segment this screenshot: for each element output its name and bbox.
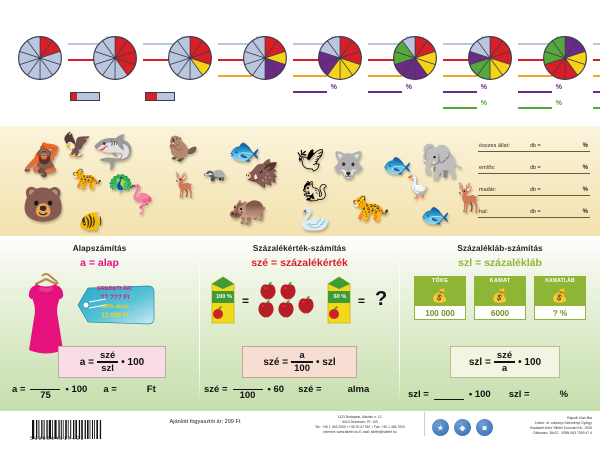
animal-boar: 🐗 bbox=[244, 160, 279, 188]
fraction-bar-strip bbox=[145, 92, 175, 101]
percent-symbol: % bbox=[481, 84, 487, 92]
animal-eagle: 🦅 bbox=[62, 134, 92, 158]
formula-denominator: 100 bbox=[291, 364, 313, 374]
animal-percent-symbol: % bbox=[583, 165, 588, 171]
percent-symbol: % bbox=[556, 100, 562, 108]
tag-line-discount: -25% akció bbox=[82, 304, 148, 310]
panel-subtitle: szé = százalékérték bbox=[200, 257, 399, 269]
animal-swan: 🦢 bbox=[300, 208, 330, 232]
money-card-art: 💰 bbox=[475, 286, 525, 306]
money-card-value: ? % bbox=[535, 306, 585, 320]
answer-rule[interactable] bbox=[443, 107, 477, 109]
animal-brown-bear: 🐻 bbox=[22, 188, 64, 222]
animal-kingfisher: 🕊 bbox=[296, 150, 324, 172]
percent-symbol: % bbox=[481, 100, 487, 108]
animal-count-unit: db = bbox=[530, 143, 541, 149]
answer-unit: Ft bbox=[147, 384, 156, 395]
fraction-bar-strip bbox=[70, 92, 100, 101]
animal-count-row[interactable]: összes állat: db = % bbox=[478, 130, 590, 152]
money-card-toke: TŐKE 💰 100 000 bbox=[414, 276, 466, 320]
animal-lynx: 🐆 bbox=[72, 166, 102, 190]
animal-beaver: 🦫 bbox=[168, 138, 198, 162]
formula-denominator: a bbox=[499, 364, 510, 374]
formula-fraction: szé szl bbox=[97, 351, 118, 374]
pie-chart-svg bbox=[168, 36, 212, 80]
answer-rule[interactable] bbox=[368, 91, 402, 93]
formula-box-szazalekertek: szé = a 100 • szl bbox=[242, 346, 357, 378]
publisher-address: 1123 Budapest, Alkotás u. 12.6413 Debrec… bbox=[300, 415, 420, 435]
pie-chart bbox=[93, 36, 137, 85]
pie-chart-svg bbox=[318, 36, 362, 80]
formula-numerator: szé bbox=[97, 351, 118, 361]
answer-denominator: 75 bbox=[40, 391, 51, 401]
animal-count-unit: db = bbox=[530, 209, 541, 215]
formula-tail: • szl bbox=[316, 357, 336, 368]
answer-fraction-bar bbox=[434, 399, 464, 401]
percent-answer-lines: % % % % % bbox=[593, 32, 600, 112]
answer-denominator: 100 bbox=[240, 391, 256, 401]
carton-label-100: 100 % bbox=[213, 294, 235, 300]
panel-title: Százalékérték-számítás bbox=[200, 244, 399, 253]
animal-orangutan: 🦧 bbox=[22, 144, 62, 176]
panel-title: Alapszámítás bbox=[0, 244, 199, 253]
apple-icon bbox=[296, 294, 316, 319]
formula-tail: • 100 bbox=[121, 357, 144, 368]
panel-szazalekLab: Százalékláb-számítás szl = százalékláb T… bbox=[400, 236, 600, 411]
money-card-art: 💰 bbox=[535, 286, 585, 306]
pie-chart-svg bbox=[393, 36, 437, 80]
credit-line: Cikkszám: 38x22 · ISBN 963 7269 47 4 bbox=[472, 431, 592, 436]
animals-count-table: összes állat: db = %emlős: db = %madár: … bbox=[478, 130, 590, 218]
animal-category-label: hal: bbox=[479, 209, 488, 215]
formula-lhs: a = bbox=[80, 357, 94, 368]
tag-line-original-price-value: ?? ??? Ft bbox=[82, 294, 148, 301]
animal-jaguar: 🐆 bbox=[352, 192, 389, 222]
panel-szazalekertek: Százalékérték-számítás szé = százalékért… bbox=[200, 236, 399, 411]
panel-subtitle: a = alap bbox=[0, 257, 199, 269]
pie-chart-svg bbox=[468, 36, 512, 80]
formula-denominator: szl bbox=[98, 364, 117, 374]
money-card-value: 6000 bbox=[475, 306, 525, 320]
formula-tail: • 100 bbox=[518, 357, 541, 368]
answer-rule[interactable] bbox=[593, 43, 600, 45]
juice-carton-100-illustration bbox=[208, 274, 238, 326]
pie-chart bbox=[18, 36, 62, 85]
formula-fraction: szé a bbox=[494, 351, 515, 374]
equals-sign-1: = bbox=[242, 294, 249, 308]
answer-rule[interactable] bbox=[293, 91, 327, 93]
answer-lhs: a = bbox=[12, 384, 25, 395]
formula-lhs: szé = bbox=[263, 357, 288, 368]
formula-numerator: a bbox=[296, 351, 307, 361]
formula-panels-section: Alapszámítás a = alap bbox=[0, 236, 600, 411]
money-card-kamatlab: KAMATLÁB 💰 ? % bbox=[534, 276, 586, 320]
percent-answer-line[interactable]: % bbox=[518, 96, 562, 109]
animal-heron: 🪿 bbox=[404, 176, 431, 198]
fraction-row-section: % % % % % % bbox=[0, 18, 600, 126]
publisher-logo-icon-1: ★ bbox=[432, 419, 449, 436]
pie-chart bbox=[543, 36, 587, 85]
percent-symbol: % bbox=[331, 84, 337, 92]
answer-row-alap[interactable]: a = 75 • 100 a = Ft bbox=[0, 379, 211, 401]
animal-squirrel: 🐿 bbox=[302, 182, 327, 202]
percent-answer-line[interactable]: % bbox=[593, 96, 600, 109]
answer-row-szazalekLab[interactable]: szl = • 100 szl = % bbox=[400, 389, 600, 402]
percent-answer-line[interactable]: % bbox=[443, 96, 487, 109]
money-card-art: 💰 bbox=[415, 286, 465, 306]
formula-box-alap: a = szé szl • 100 bbox=[58, 346, 166, 378]
animal-hippo: 🦛 bbox=[228, 192, 268, 224]
answer-mid: • 60 bbox=[268, 384, 285, 395]
answer-rule[interactable] bbox=[593, 107, 600, 109]
answer-mid: • 100 bbox=[469, 389, 491, 400]
animal-count-row[interactable]: emlős: db = % bbox=[478, 152, 590, 174]
apple-icon bbox=[276, 298, 296, 323]
piggy-bank-icon: 💰 bbox=[432, 288, 448, 304]
percent-symbol: % bbox=[406, 84, 412, 92]
animal-count-unit: db = bbox=[530, 165, 541, 171]
percent-answer-line[interactable]: % bbox=[593, 32, 600, 45]
animal-flamingo: 🦩 bbox=[124, 186, 159, 214]
pie-chart bbox=[468, 36, 512, 85]
animal-catfish: 🐟 bbox=[420, 204, 450, 228]
poster-root: % % % % % % bbox=[0, 0, 600, 450]
pie-chart-svg bbox=[93, 36, 137, 80]
pie-chart bbox=[318, 36, 362, 85]
tag-line-original-price-label: EREDETI ÁR: bbox=[82, 286, 148, 292]
carton-label-60: 60 % bbox=[329, 294, 351, 300]
pie-chart-svg bbox=[18, 36, 62, 80]
answer-rule[interactable] bbox=[593, 59, 600, 61]
answer-result-lhs: a = bbox=[103, 384, 116, 395]
answer-rule[interactable] bbox=[593, 75, 600, 77]
juice-carton-60-illustration bbox=[324, 274, 354, 326]
money-card-value: 100 000 bbox=[415, 306, 465, 320]
answer-unit: % bbox=[560, 389, 568, 400]
tag-line-sale-price: 12 000 Ft bbox=[82, 312, 148, 319]
pie-chart bbox=[168, 36, 212, 85]
publisher-logo-icon-2: ◆ bbox=[454, 419, 471, 436]
answer-unit: alma bbox=[348, 384, 370, 395]
answer-blank-fraction[interactable]: 75 bbox=[30, 379, 60, 401]
money-card-kamat: KAMAT 💰 6000 bbox=[474, 276, 526, 320]
answer-rule[interactable] bbox=[443, 91, 477, 93]
formula-box-szazalekLab: szl = szé a • 100 bbox=[450, 346, 560, 378]
percent-answer-line[interactable]: % bbox=[593, 80, 600, 93]
answer-row-szazalekertek[interactable]: szé = 100 • 60 szé = alma bbox=[200, 379, 403, 401]
animal-category-label: összes állat: bbox=[479, 143, 510, 149]
money-card-header: KAMATLÁB bbox=[535, 277, 585, 286]
animal-roe-deer: 🦌 bbox=[170, 174, 200, 198]
animal-count-unit: db = bbox=[530, 187, 541, 193]
animal-trout: 🐠 bbox=[78, 212, 103, 232]
publisher-credits: Rajzolt: Kiss IlkaLektor: dr. varkonyi S… bbox=[472, 416, 592, 436]
piggy-bank-icon: 💰 bbox=[552, 288, 568, 304]
animal-mole: 🦡 bbox=[203, 162, 228, 182]
question-mark: ? bbox=[375, 288, 387, 311]
answer-lhs: szé = bbox=[204, 384, 228, 395]
piggy-bank-icon: 💰 bbox=[492, 288, 508, 304]
animal-category-label: madár: bbox=[479, 187, 496, 193]
answer-result-lhs: szé = bbox=[298, 384, 322, 395]
formula-numerator: szé bbox=[494, 351, 515, 361]
formula-lhs: szl = bbox=[469, 357, 491, 368]
equals-sign-2: = bbox=[358, 294, 365, 308]
percent-symbol: % bbox=[556, 84, 562, 92]
animal-count-row[interactable]: madár: db = % bbox=[478, 174, 590, 196]
panel-title: Százalékláb-számítás bbox=[400, 244, 600, 253]
money-card-header: TŐKE bbox=[415, 277, 465, 286]
answer-result-lhs: szl = bbox=[509, 389, 530, 400]
percent-answer-line[interactable]: % bbox=[593, 48, 600, 61]
answer-rule[interactable] bbox=[518, 107, 552, 109]
pie-chart-svg bbox=[243, 36, 287, 80]
footer-divider bbox=[424, 412, 425, 436]
barcode-number: 5998504317401 bbox=[30, 436, 85, 442]
animal-count-row[interactable]: hal: db = % bbox=[478, 196, 590, 218]
apple-icon bbox=[256, 298, 276, 323]
answer-rule[interactable] bbox=[518, 91, 552, 93]
money-card-header: KAMAT bbox=[475, 277, 525, 286]
pie-chart bbox=[393, 36, 437, 85]
answer-mid: • 100 bbox=[65, 384, 87, 395]
panel-alapszamitas: Alapszámítás a = alap bbox=[0, 236, 199, 411]
answer-lhs: szl = bbox=[408, 389, 429, 400]
answer-rule[interactable] bbox=[593, 91, 600, 93]
animal-percent-symbol: % bbox=[583, 187, 588, 193]
address-line: Internet: www.stiefel.hu E-mail: stiefel… bbox=[300, 430, 420, 435]
animal-percent-symbol: % bbox=[583, 143, 588, 149]
panel-subtitle: szl = százalékláb bbox=[400, 257, 600, 269]
percent-answer-line[interactable]: % bbox=[593, 64, 600, 77]
answer-blank-fraction[interactable]: 100 bbox=[233, 379, 263, 401]
pie-chart bbox=[243, 36, 287, 85]
formula-fraction: a 100 bbox=[291, 351, 313, 374]
price-note: Ajánlott fogyasztói ár: 299 Ft bbox=[130, 419, 280, 425]
answer-blank-fraction[interactable] bbox=[434, 389, 464, 402]
animal-wolf: 🐺 bbox=[332, 152, 364, 178]
pie-chart-svg bbox=[543, 36, 587, 80]
animal-category-label: emlős: bbox=[479, 165, 495, 171]
animal-percent-symbol: % bbox=[583, 209, 588, 215]
